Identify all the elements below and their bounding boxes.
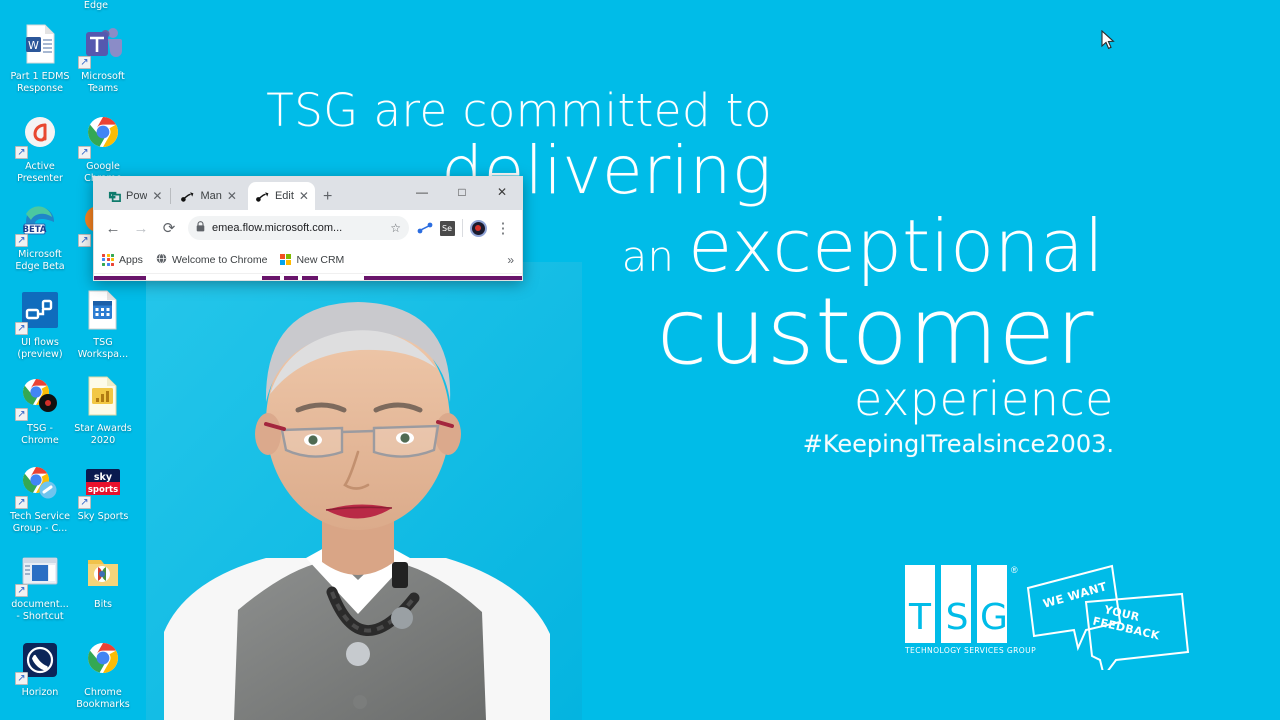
tab-title: Pow [126,190,147,202]
desktop-icon-bits-folder[interactable]: Bits [71,550,135,611]
bookmark-welcome-label: Welcome to Chrome [172,254,268,266]
slide-line-3-big: exceptional [688,204,1104,288]
browser-tab-2[interactable]: Man✕ [173,182,242,210]
desktop-icon-label: TSG Workspa... [71,337,135,360]
desktop-icon-chrome-link[interactable]: Tech Service Group - C... [8,462,72,534]
chrome-menu-button[interactable]: ⋮ [490,215,516,241]
desktop-icon-label: Microsoft Teams [71,71,135,94]
browser-title-bar[interactable]: Pow✕Man✕Edit✕ + — □ ✕ [94,177,522,210]
bookmark-new-crm[interactable]: New CRM [280,254,344,266]
desktop-icon-calendar-doc[interactable]: TSG Workspa... [71,288,135,360]
tab-separator [170,188,171,204]
bookmarks-overflow-button[interactable]: » [507,253,514,267]
globe-icon [156,253,167,267]
new-tab-button[interactable]: + [323,188,332,206]
tsg-letter-g: G [979,600,1009,636]
page-content-strip [94,274,522,281]
tsg-letter-t: T [905,600,935,636]
tab-close-icon[interactable]: ✕ [227,190,237,202]
close-button[interactable]: ✕ [482,177,522,207]
desktop-icon-chrome[interactable]: Google Chrome [71,112,135,184]
desktop-icon-chrome[interactable]: Chrome Bookmarks [71,638,135,710]
desktop-icon-label: Sky Sports [71,511,135,523]
tab-title: Man [200,190,221,202]
shortcut-overlay-icon [15,322,28,335]
shortcut-overlay-icon [15,408,28,421]
desktop-icon-teams[interactable]: Microsoft Teams [71,22,135,94]
slide-line-1: TSG are committed to [266,84,772,137]
bookmark-new-crm-label: New CRM [296,254,344,266]
browser-tab-3[interactable]: Edit✕ [248,182,315,210]
chrome-browser-window[interactable]: Pow✕Man✕Edit✕ + — □ ✕ ← → ⟳ emea.flow.mi… [93,176,523,281]
edge-beta-icon: BETA [17,200,63,246]
tab-strip[interactable]: Pow✕Man✕Edit✕ [100,182,315,210]
powerpoint-doc-icon [80,374,126,420]
shortcut-overlay-icon [15,496,28,509]
url-text[interactable]: emea.flow.microsoft.com... [212,222,383,234]
shortcut-overlay-icon [78,56,91,69]
browser-toolbar[interactable]: ← → ⟳ emea.flow.microsoft.com... ☆ Se ⋮ [94,210,522,246]
maximize-button[interactable]: □ [442,177,482,207]
desktop-icon-label: Tech Service Group - C... [8,511,72,534]
desktop-icon-label: TSG - Chrome [8,423,72,446]
desktop-icon-label: Horizon [8,687,72,699]
browser-tab-1[interactable]: Pow✕ [100,182,168,210]
selenium-ide-extension-icon[interactable]: Se [437,218,457,238]
shortcut-overlay-icon [15,234,28,247]
power-automate-extension-icon[interactable] [415,218,435,238]
profile-avatar[interactable] [468,218,488,238]
chrome-link-icon [17,462,63,508]
registered-mark: ® [1011,565,1018,575]
desktop-icon-chrome-record[interactable]: TSG - Chrome [8,374,72,446]
power-apps-icon [108,190,121,203]
toolbar-divider [462,219,463,237]
power-automate-icon [181,191,195,202]
teams-icon [80,22,126,68]
svg-text:sky: sky [94,472,113,483]
shortcut-overlay-icon [15,672,28,685]
apps-grid-icon [102,254,114,266]
svg-text:sports: sports [88,485,118,495]
desktop-icon-label-edge-clipped: Edge [64,0,128,13]
feedback-bubbles: WE WANT YOUR FEEDBACK [1020,560,1200,670]
desktop-icon-horizon[interactable]: Horizon [8,638,72,699]
tsg-tagline: TECHNOLOGY SERVICES GROUP [905,646,1036,655]
desktop-icon-word-doc[interactable]: WPart 1 EDMS Response [8,22,72,94]
slide-hashtag: #KeepingITrealsince2003. [803,430,1114,458]
bits-folder-icon [80,550,126,596]
desktop-icon-label: Chrome Bookmarks [71,687,135,710]
chrome-icon [80,112,126,158]
shortcut-overlay-icon [78,234,91,247]
chrome-icon [80,638,126,684]
slide-line-3-small: an [622,232,674,281]
desktop-icon-label: Bits [71,599,135,611]
slide-line-5: experience [854,372,1114,426]
window-doc-icon [17,550,63,596]
window-controls[interactable]: — □ ✕ [402,177,522,207]
word-doc-icon: W [17,22,63,68]
bookmarks-bar[interactable]: Apps Welcome to Chrome New CRM » [94,246,522,274]
shortcut-overlay-icon [15,146,28,159]
bookmark-apps-label: Apps [119,254,143,266]
desktop-icon-powerpoint-doc[interactable]: Star Awards 2020 [71,374,135,446]
chrome-record-icon [17,374,63,420]
microsoft-logo-icon [280,254,291,265]
active-presenter-icon [17,112,63,158]
lock-icon [196,219,205,237]
slide-line-4: customer [657,278,1094,385]
bookmark-apps[interactable]: Apps [102,254,143,266]
power-automate-icon [256,191,270,202]
tsg-logo-mark: T S G ® [905,565,1009,643]
desktop-icon-sky-sports[interactable]: skysportsSky Sports [71,462,135,523]
address-bar[interactable]: emea.flow.microsoft.com... ☆ [188,216,409,240]
bookmark-welcome-to-chrome[interactable]: Welcome to Chrome [156,253,268,267]
sky-sports-icon: skysports [80,462,126,508]
calendar-doc-icon [80,288,126,334]
back-button[interactable]: ← [100,215,126,241]
tsg-letter-s: S [942,600,972,636]
reload-button[interactable]: ⟳ [156,215,182,241]
desktop-icon-label: Active Presenter [8,161,72,184]
shortcut-overlay-icon [15,584,28,597]
desktop-icon-label: Part 1 EDMS Response [8,71,72,94]
minimize-button[interactable]: — [402,177,442,207]
desktop-icon-label: Star Awards 2020 [71,423,135,446]
ui-flows-icon [17,288,63,334]
desktop-icon-window-doc[interactable]: document... - Shortcut [8,550,72,622]
desktop-icon-label: Microsoft Edge Beta [8,249,72,272]
mouse-cursor [1101,30,1115,50]
desktop-icon-label: document... - Shortcut [8,599,72,622]
desktop-icon-active-presenter[interactable]: Active Presenter [8,112,72,184]
horizon-icon [17,638,63,684]
tab-title: Edit [275,190,294,202]
bookmark-star-icon[interactable]: ☆ [390,221,401,235]
desktop-icon-label: UI flows (preview) [8,337,72,360]
tsg-logo: T S G ® TECHNOLOGY SERVICES GROUP [905,565,1036,655]
person-photo [146,262,582,720]
tab-close-icon[interactable]: ✕ [299,190,309,202]
shortcut-overlay-icon [78,146,91,159]
desktop-screen: TSG are committed to delivering an excep… [0,0,1280,720]
forward-button: → [128,215,154,241]
desktop-icon-edge-beta[interactable]: BETAMicrosoft Edge Beta [8,200,72,272]
slide-line-3: an exceptional [622,204,1104,288]
shortcut-overlay-icon [78,496,91,509]
svg-text:W: W [28,39,39,52]
desktop-icon-ui-flows[interactable]: UI flows (preview) [8,288,72,360]
tab-close-icon[interactable]: ✕ [152,190,162,202]
